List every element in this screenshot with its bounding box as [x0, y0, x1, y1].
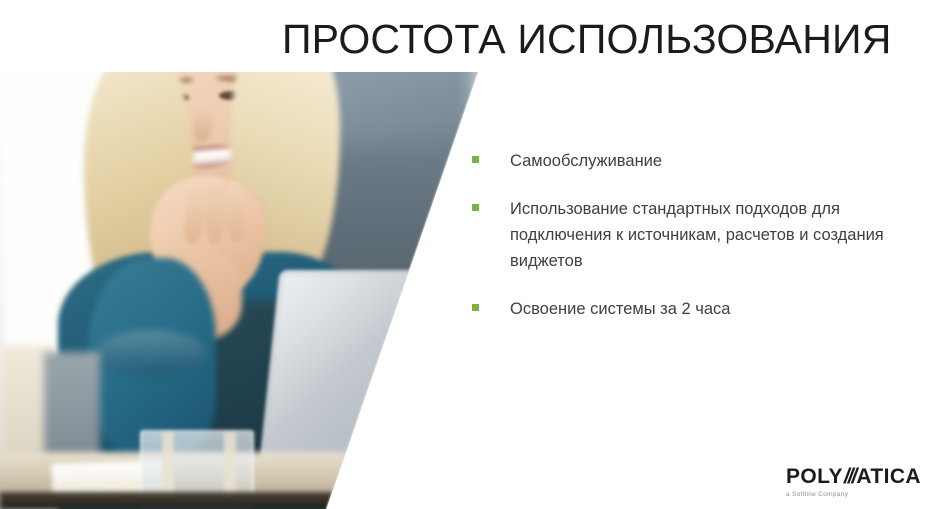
list-item-label: Освоение системы за 2 часа: [510, 296, 730, 322]
slide-photo: [0, 0, 480, 509]
photo-desk-shadow: [0, 492, 480, 509]
bullet-list: Самообслуживание Использование стандартн…: [472, 148, 912, 344]
logo-slashes-icon: ///: [843, 465, 857, 488]
logo-tagline: a Softline Company: [786, 490, 921, 500]
photo-image: [0, 0, 480, 509]
list-item-label: Использование стандартных подходов для п…: [510, 196, 912, 274]
logo-word-part2: ATICA: [856, 465, 921, 488]
bullet-square-icon: [472, 204, 479, 211]
logo-wordmark: POLY///ATICA: [786, 466, 921, 488]
photo-blouse-fold: [96, 330, 206, 376]
presentation-slide: ПРОСТОТА ИСПОЛЬЗОВАНИЯ Самообслуживание …: [0, 0, 937, 509]
list-item: Самообслуживание: [472, 148, 912, 174]
page-title: ПРОСТОТА ИСПОЛЬЗОВАНИЯ: [282, 14, 892, 64]
list-item-label: Самообслуживание: [510, 148, 662, 174]
photo-nose: [192, 108, 212, 142]
logo-word-part1: POLY: [786, 465, 843, 488]
bullet-square-icon: [472, 156, 479, 163]
bullet-square-icon: [472, 304, 479, 311]
title-band-left-fill: [0, 0, 300, 14]
list-item: Освоение системы за 2 часа: [472, 296, 912, 322]
company-logo: POLY///ATICA a Softline Company: [786, 466, 921, 500]
list-item: Использование стандартных подходов для п…: [472, 196, 912, 274]
